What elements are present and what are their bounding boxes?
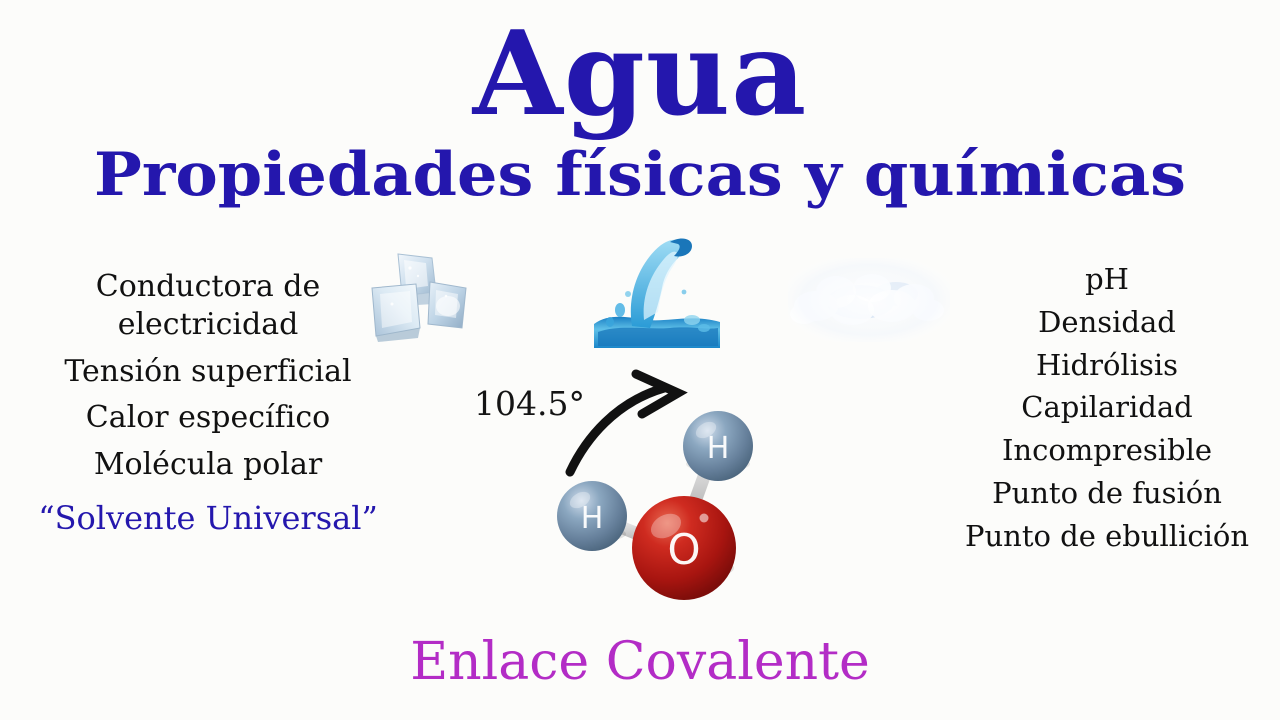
right-property-incompresible: Incompresible	[942, 433, 1272, 468]
oxygen-atom: O	[632, 496, 736, 600]
svg-text:H: H	[707, 431, 730, 466]
left-property-solvente-universal: “Solvente Universal”	[8, 498, 408, 538]
right-properties-column: pH Densidad Hidrólisis Capilaridad Incom…	[942, 262, 1272, 562]
water-molecule-diagram: O H H	[538, 398, 768, 616]
svg-text:H: H	[581, 501, 604, 536]
right-property-ph: pH	[942, 262, 1272, 297]
ice-cubes-image	[358, 248, 476, 344]
left-property-calor-especifico: Calor específico	[8, 399, 408, 437]
cloud-image	[788, 258, 950, 342]
water-splash-image	[592, 232, 722, 350]
right-property-densidad: Densidad	[942, 305, 1272, 340]
right-property-punto-de-fusion: Punto de fusión	[942, 476, 1272, 511]
hydrogen-atom-right: H	[683, 411, 753, 481]
right-property-capilaridad: Capilaridad	[942, 390, 1272, 425]
page-subtitle: Propiedades físicas y químicas	[0, 142, 1280, 208]
left-property-conductora-de-electricidad: Conductora de electricidad	[8, 268, 408, 344]
right-property-punto-de-ebullicion: Punto de ebullición	[942, 519, 1272, 554]
page-title: Agua	[0, 14, 1280, 136]
hydrogen-atom-left: H	[557, 481, 627, 551]
bottom-caption: Enlace Covalente	[0, 632, 1280, 692]
slide-canvas: Agua Propiedades físicas y químicas Cond…	[0, 0, 1280, 720]
left-property-molecula-polar: Molécula polar	[8, 446, 408, 484]
svg-text:O: O	[667, 525, 700, 574]
right-property-hidrolisis: Hidrólisis	[942, 348, 1272, 383]
left-property-tension-superficial: Tensión superficial	[8, 353, 408, 391]
left-properties-column: Conductora de electricidad Tensión super…	[8, 268, 408, 547]
